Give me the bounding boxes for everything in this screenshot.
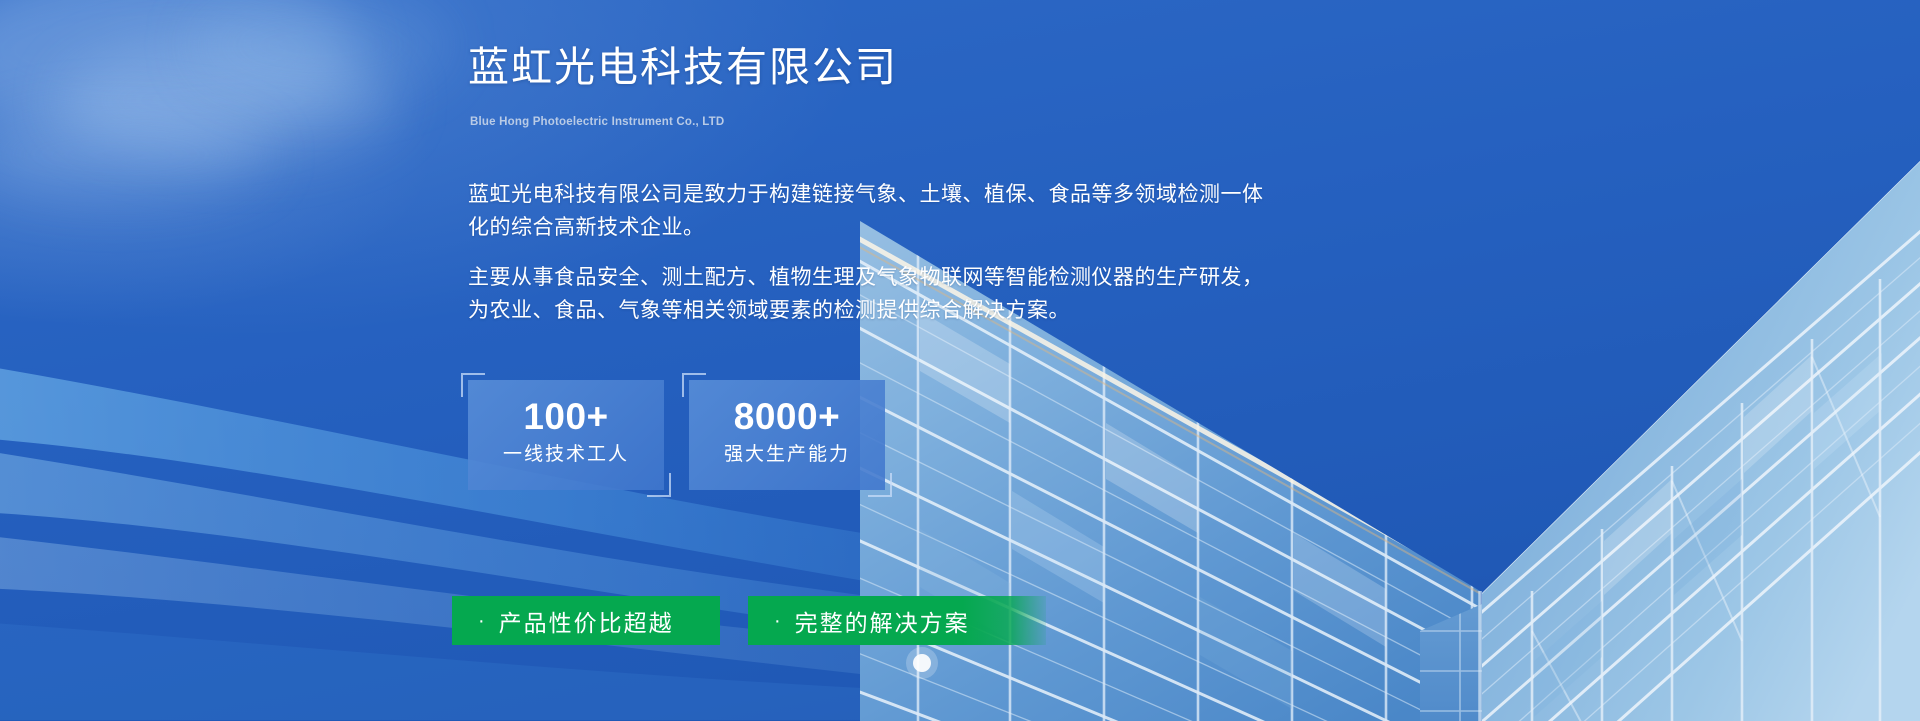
feature-tag-group: · 产品性价比超越 · 完整的解决方案 [452,596,1046,645]
feature-tag-value: · 产品性价比超越 [452,596,720,645]
stat-card-production-capacity: 8000+ 强大生产能力 [689,380,885,490]
intro-p1-line-2: 化的综合高新技术企业。 [468,211,1468,244]
page-title: 蓝虹光电科技有限公司 [468,44,898,91]
intro-p1-line-1: 蓝虹光电科技有限公司是致力于构建链接气象、土壤、植保、食品等多领域检测一体 [468,178,1468,211]
subtitle-line-2: Instrument Co., LTD [612,116,725,128]
intro-paragraph-1: 蓝虹光电科技有限公司是致力于构建链接气象、土壤、植保、食品等多领域检测一体 化的… [468,178,1468,244]
statistics-group: 100+ 一线技术工人 8000+ 强大生产能力 [468,380,885,490]
feature-tag-label: 完整的解决方案 [795,604,970,638]
stat-card-technicians: 100+ 一线技术工人 [468,380,664,490]
company-subtitle-english: Blue Hong Photoelectric Instrument Co., … [470,114,724,131]
intro-paragraph-2: 主要从事食品安全、测土配方、植物生理及气象物联网等智能检测仪器的生产研发， 为农… [468,261,1468,327]
company-hero-banner: 蓝虹光电科技有限公司 Blue Hong Photoelectric Instr… [0,0,1920,721]
feature-tag-label: 产品性价比超越 [499,604,674,638]
subtitle-line-1: Blue Hong Photoelectric [470,116,608,128]
feature-tag-solution: · 完整的解决方案 [748,596,1046,645]
intro-p2-line-1: 主要从事食品安全、测土配方、植物生理及气象物联网等智能检测仪器的生产研发， [468,261,1468,294]
banner-content: 蓝虹光电科技有限公司 Blue Hong Photoelectric Instr… [0,0,1920,721]
stat-value: 8000+ [689,394,885,440]
bullet-dot-icon: · [478,611,487,631]
bullet-dot-icon: · [774,611,783,631]
stat-value: 100+ [468,394,664,440]
intro-p2-line-2: 为农业、食品、气象等相关领域要素的检测提供综合解决方案。 [468,294,1468,327]
stat-label: 一线技术工人 [468,440,664,470]
stat-label: 强大生产能力 [689,440,885,470]
